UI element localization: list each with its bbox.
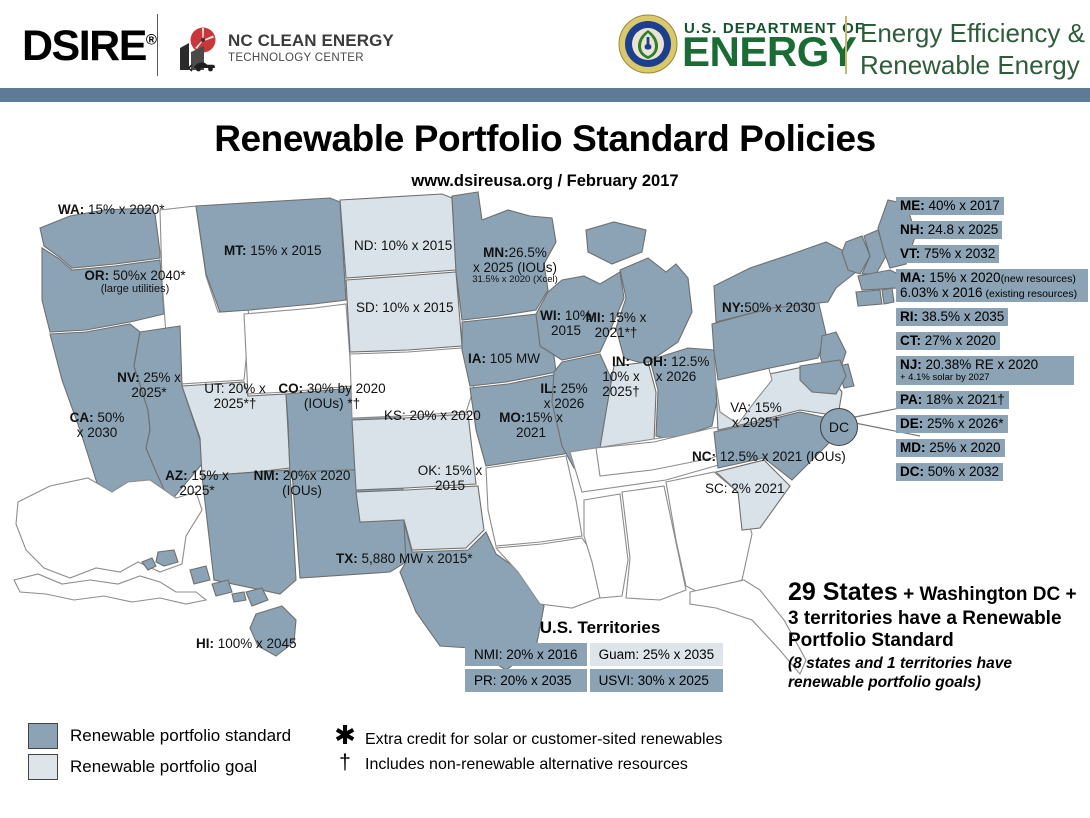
label-mt-value: 15% x 2015 [247,243,322,258]
list-item-nh[interactable]: NH: 24.8 x 2025 [896,221,1002,239]
label-wa-abbr: WA: [58,202,84,217]
label-sd-value: 10% x 2015 [379,300,454,315]
list-item-vt[interactable]: VT: 75% x 2032 [896,245,999,263]
label-nd-value: 10% x 2015 [377,238,452,253]
list-item-ma[interactable]: MA: 15% x 2020(new resources) 6.03% x 20… [896,269,1088,302]
label-or-value: 50%x 2040* [109,268,186,283]
header-divider-gold [845,16,847,74]
list-item-nh-value: 24.8 x 2025 [924,222,998,237]
doe-seal-icon [618,14,678,74]
label-nc-value: 12.5% x 2021 (IOUs) [716,449,846,464]
label-va-value: 15% [751,400,782,415]
label-ny-value: 50% x 2030 [744,300,815,315]
legend-label-rps: Renewable portfolio standard [70,726,291,746]
eere-wordmark: Energy Efficiency & Renewable Energy [860,18,1085,81]
doe-energy-text: ENERGY [682,31,856,73]
label-il-value: 25% [557,381,588,396]
label-ok-value: 15% x [441,463,482,478]
list-item-pa-value: 18% x 2021† [922,392,1005,407]
label-hi-abbr: HI: [196,636,214,651]
label-oh-line2: x 2026 [638,369,714,384]
page-header: DSIRE® NC CLEAN ENERGY TECHNOLOGY CENTER… [0,0,1090,88]
label-nm: NM: 20%x 2020 (IOUs) [247,468,357,498]
label-mt: MT: 15% x 2015 [224,243,322,258]
label-tx: TX: 5,880 MW x 2015* [336,551,473,566]
dagger-icon: † [325,751,365,775]
dsire-logo-text: DSIRE [22,22,146,70]
asterisk-icon: ✱ [325,720,365,751]
list-item-ct[interactable]: CT: 27% x 2020 [896,332,1000,350]
label-sc-value: 2% 2021 [728,481,785,496]
nc-clean-energy-mark-icon [172,26,228,72]
list-item-ct-value: 27% x 2020 [921,333,996,348]
label-mn-line3: 31.5% x 2020 (Xcel) [450,275,580,286]
label-ut-line2: 2025*† [190,396,280,411]
list-item-nj-value: 20.38% RE x 2020 [922,357,1038,372]
label-ok-line2: 2015 [405,478,495,493]
label-mo: MO:15% x 2021 [492,410,570,440]
summary-block: 29 States + Washington DC + 3 territorie… [788,578,1084,693]
state-ri[interactable] [882,288,894,304]
label-co-value: 30% by 2020 [303,381,386,396]
summary-count: 29 States [788,578,898,606]
map-footnotes: ✱ Extra credit for solar or customer-sit… [325,720,722,782]
legend-swatch-goal [28,754,58,780]
list-item-vt-value: 75% x 2032 [920,246,995,261]
legend-label-goal: Renewable portfolio goal [70,757,257,777]
label-nd: ND: 10% x 2015 [354,238,452,253]
label-nd-abbr: ND: [354,238,377,253]
label-or: OR: 50%x 2040* (large utilities) [60,268,210,295]
footnote-asterisk-label: Extra credit for solar or customer-sited… [365,731,722,749]
list-item-ri-value: 38.5% x 2035 [918,309,1004,324]
list-item-md-abbr: MD: [900,440,926,455]
list-item-me-value: 40% x 2017 [925,198,1000,213]
label-oh-value: 12.5% [667,354,709,369]
label-ca-value: 50% [94,410,125,425]
legend-swatch-rps [28,723,58,749]
list-item-de-value: 25% x 2026* [923,416,1003,431]
territories-table: NMI: 20% x 2016 Guam: 25% x 2035 PR: 20%… [462,640,726,695]
territories-title: U.S. Territories [455,618,745,638]
label-ok: OK: 15% x 2015 [405,463,495,493]
list-item-me[interactable]: ME: 40% x 2017 [896,197,1004,215]
label-mi-abbr: MI: [586,310,606,325]
label-mo-abbr: MO: [499,410,525,425]
label-nm-line2: (IOUs) [247,483,357,498]
label-ok-abbr: OK: [418,463,441,478]
label-or-note: (large utilities) [60,283,210,295]
list-item-ri[interactable]: RI: 38.5% x 2035 [896,308,1008,326]
label-mo-value: 15% x [525,410,563,425]
label-il-line2: x 2026 [528,396,600,411]
label-ks-abbr: KS: [384,408,406,423]
label-ut: UT: 20% x 2025*† [190,381,280,411]
list-item-pa[interactable]: PA: 18% x 2021† [896,391,1009,409]
registered-trademark-icon: ® [146,32,157,49]
list-item-ri-abbr: RI: [900,309,918,324]
summary-note: (8 states and 1 territories have renewab… [788,655,1084,692]
nccetc-line-1: NC CLEAN ENERGY [228,32,394,50]
list-item-dc-value: 50% x 2032 [924,464,999,479]
dsire-logo: DSIRE® [22,22,157,71]
label-nc: NC: 12.5% x 2021 (IOUs) [692,449,846,464]
label-mn-value: 26.5% [509,245,547,260]
label-nv-value: 25% x [140,370,181,385]
label-az-line2: 2025* [155,483,239,498]
label-ca-line2: x 2030 [56,425,138,440]
label-mi-line2: 2021*† [578,325,654,340]
list-item-ma-line2: 6.03% x 2016 [900,285,983,300]
label-wa-value: 15% x 2020* [84,202,164,217]
label-sd-abbr: SD: [356,300,379,315]
list-item-nh-abbr: NH: [900,222,924,237]
label-ks: KS: 20% x 2020 [384,408,481,423]
list-item-ma-value: 15% x 2020 [926,270,1001,285]
map-legend: Renewable portfolio standard Renewable p… [28,720,291,782]
label-va: VA: 15% x 2025† [714,400,798,430]
nccetc-line-2: TECHNOLOGY CENTER [228,52,394,64]
label-az-abbr: AZ: [165,468,188,483]
label-nv-abbr: NV: [117,370,140,385]
label-sd: SD: 10% x 2015 [356,300,454,315]
list-item-md-value: 25% x 2020 [926,440,1001,455]
table-row: NMI: 20% x 2016 Guam: 25% x 2035 [465,643,723,666]
label-hi: HI: 100% x 2045 [196,636,297,651]
header-divider [157,14,158,76]
label-il: IL: 25% x 2026 [528,381,600,411]
territory-nmi[interactable]: NMI: 20% x 2016 [465,643,587,666]
state-nd[interactable] [340,194,456,278]
list-item-nj-sub: + 4.1% solar by 2027 [900,372,1070,383]
label-oh: OH: 12.5% x 2026 [638,354,714,384]
label-ut-abbr: UT: [204,381,224,396]
list-item-vt-abbr: VT: [900,246,920,261]
label-ny-abbr: NY: [722,300,744,315]
list-item-pa-abbr: PA: [900,392,922,407]
header-accent-bar [0,88,1090,102]
label-nm-value: 20%x 2020 [279,468,350,483]
label-co: CO: 30% by 2020 (IOUs) *† [272,381,392,411]
label-oh-abbr: OH: [643,354,668,369]
page-title: Renewable Portfolio Standard Policies [0,118,1090,160]
label-nv-line2: 2025* [104,385,194,400]
label-mn: MN:26.5% x 2025 (IOUs) 31.5% x 2020 (Xce… [450,245,580,286]
label-sc-abbr: SC: [705,481,728,496]
dc-marker[interactable]: DC [820,408,858,446]
list-item-de[interactable]: DE: 25% x 2026* [896,415,1008,433]
footnote-asterisk: ✱ Extra credit for solar or customer-sit… [325,720,722,751]
label-wa: WA: 15% x 2020* [58,202,165,217]
label-hi-value: 100% x 2045 [214,636,297,651]
label-or-abbr: OR: [84,268,109,283]
label-nc-abbr: NC: [692,449,716,464]
list-item-dc-abbr: DC: [900,464,924,479]
table-row: PR: 20% x 2035 USVI: 30% x 2025 [465,669,723,692]
label-mi-value: 15% x [605,310,646,325]
list-item-ct-abbr: CT: [900,333,921,348]
label-ia-value: 105 MW [486,351,540,366]
label-az: AZ: 15% x 2025* [155,468,239,498]
label-tx-value: 5,880 MW x 2015* [358,551,473,566]
label-az-value: 15% x [188,468,229,483]
territory-usvi[interactable]: USVI: 30% x 2025 [590,669,724,692]
label-va-line2: x 2025† [714,415,798,430]
territory-guam[interactable]: Guam: 25% x 2035 [590,643,724,666]
dc-marker-label: DC [829,419,849,435]
list-item-de-abbr: DE: [900,416,923,431]
eere-line-1: Energy Efficiency & [860,18,1085,50]
label-ny: NY:50% x 2030 [722,300,816,315]
label-nm-abbr: NM: [254,468,280,483]
label-mi: MI: 15% x 2021*† [578,310,654,340]
legend-item-goal: Renewable portfolio goal [28,751,291,782]
label-nv: NV: 25% x 2025* [104,370,194,400]
label-mn-abbr: MN: [483,245,509,260]
label-sc: SC: 2% 2021 [705,481,785,496]
list-item-ma-small2: (existing resources) [983,288,1078,300]
label-mt-abbr: MT: [224,243,247,258]
label-ia-abbr: IA: [468,351,486,366]
label-ca-abbr: CA: [70,410,94,425]
legend-item-rps: Renewable portfolio standard [28,720,291,751]
label-ca: CA: 50% x 2030 [56,410,138,440]
list-item-ma-small: (new resources) [1001,273,1076,285]
label-co-abbr: CO: [278,381,303,396]
label-co-line2: (IOUs) *† [272,396,392,411]
eere-line-2: Renewable Energy [860,50,1085,82]
label-in-line3: 2025† [595,384,647,399]
state-ar [486,456,582,546]
northeast-state-list: ME: 40% x 2017 NH: 24.8 x 2025 VT: 75% x… [896,197,1088,487]
label-mn-line2: x 2025 (IOUs) [450,260,580,275]
label-ia: IA: 105 MW [468,351,540,366]
state-ct[interactable] [856,290,882,306]
label-ks-value: 20% x 2020 [406,408,481,423]
list-item-ma-abbr: MA: [900,270,926,285]
list-item-me-abbr: ME: [900,198,925,213]
nc-clean-energy-wordmark: NC CLEAN ENERGY TECHNOLOGY CENTER [228,32,394,64]
footnote-dagger-label: Includes non-renewable alternative resou… [365,756,688,774]
footnote-dagger: † Includes non-renewable alternative res… [325,751,722,782]
label-ut-value: 20% x [224,381,265,396]
list-item-nj[interactable]: NJ: 20.38% RE x 2020 + 4.1% solar by 202… [896,356,1074,385]
label-va-abbr: VA: [730,400,751,415]
territory-pr[interactable]: PR: 20% x 2035 [465,669,587,692]
list-item-md[interactable]: MD: 25% x 2020 [896,439,1005,457]
label-mo-line2: 2021 [492,425,570,440]
list-item-nj-abbr: NJ: [900,357,922,372]
label-in-abbr: IN: [612,354,630,369]
label-il-abbr: IL: [540,381,557,396]
list-item-dc[interactable]: DC: 50% x 2032 [896,463,1003,481]
label-wi-abbr: WI: [540,308,561,323]
label-tx-abbr: TX: [336,551,358,566]
